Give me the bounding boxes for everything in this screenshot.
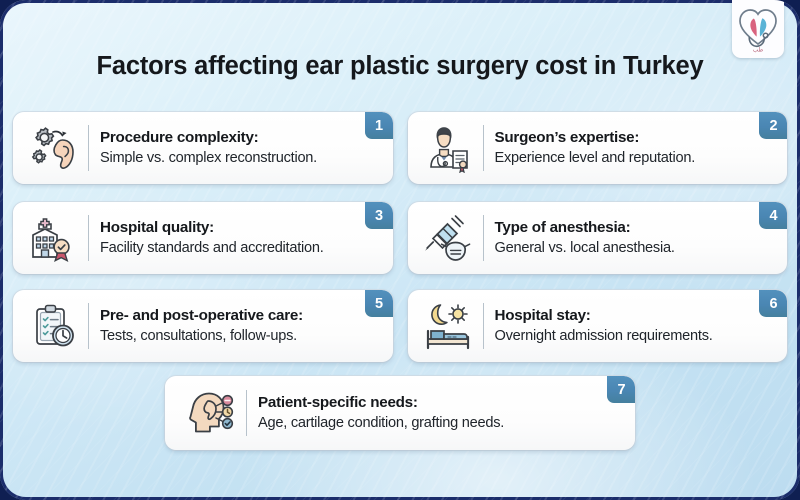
card-row-4: Patient-specific needs: Age, cartilage c… [165,376,635,450]
card-subtext: General vs. local anesthesia. [495,239,774,257]
card-number-badge: 6 [759,290,787,317]
card-divider [483,125,484,171]
card-heading: Surgeon’s expertise: [495,129,774,147]
card-heading: Patient-specific needs: [258,394,621,412]
page-title: Factors affecting ear plastic surgery co… [0,52,800,81]
card-text: Pre- and post-operative care: Tests, con… [100,307,383,345]
heart-stethoscope-logo: طب [732,0,784,58]
factor-card-7[interactable]: Patient-specific needs: Age, cartilage c… [165,376,635,450]
card-text: Hospital quality: Facility standards and… [100,219,383,257]
card-text: Procedure complexity: Simple vs. complex… [100,129,383,167]
card-row-3: Pre- and post-operative care: Tests, con… [13,290,787,362]
card-divider [88,303,89,349]
infographic-canvas: طب Factors affecting ear plastic surgery… [0,0,800,500]
card-divider [88,125,89,171]
factor-card-4[interactable]: Type of anesthesia: General vs. local an… [408,202,788,274]
factor-card-6[interactable]: Hospital stay: Overnight admission requi… [408,290,788,362]
syringe-mask-icon [417,208,481,268]
card-subtext: Simple vs. complex reconstruction. [100,149,379,167]
card-subtext: Experience level and reputation. [495,149,774,167]
clipboard-clock-icon [22,296,86,356]
svg-text:طب: طب [753,47,764,54]
card-text: Type of anesthesia: General vs. local an… [495,219,778,257]
card-subtext: Tests, consultations, follow-ups. [100,327,379,345]
card-row-2: Hospital quality: Facility standards and… [13,202,787,274]
factor-card-2[interactable]: Surgeon’s expertise: Experience level an… [408,112,788,184]
hospital-badge-icon [22,208,86,268]
card-heading: Hospital quality: [100,219,379,237]
card-heading: Type of anesthesia: [495,219,774,237]
card-number-badge: 7 [607,376,635,403]
factor-card-1[interactable]: Procedure complexity: Simple vs. complex… [13,112,393,184]
card-subtext: Age, cartilage condition, grafting needs… [258,414,621,432]
card-divider [88,215,89,261]
card-divider [483,215,484,261]
gears-ear-icon [22,118,86,178]
card-text: Patient-specific needs: Age, cartilage c… [258,394,625,432]
card-heading: Hospital stay: [495,307,774,325]
card-number-badge: 4 [759,202,787,229]
card-subtext: Overnight admission requirements. [495,327,774,345]
card-number-badge: 3 [365,202,393,229]
card-divider [246,390,247,436]
moon-sun-bed-icon [417,296,481,356]
card-heading: Procedure complexity: [100,129,379,147]
card-heading: Pre- and post-operative care: [100,307,379,325]
card-number-badge: 5 [365,290,393,317]
factor-card-3[interactable]: Hospital quality: Facility standards and… [13,202,393,274]
card-row-1: Procedure complexity: Simple vs. complex… [13,112,787,184]
factor-card-5[interactable]: Pre- and post-operative care: Tests, con… [13,290,393,362]
card-text: Hospital stay: Overnight admission requi… [495,307,778,345]
card-number-badge: 2 [759,112,787,139]
surgeon-certificate-icon [417,118,481,178]
card-text: Surgeon’s expertise: Experience level an… [495,129,778,167]
card-divider [483,303,484,349]
head-ear-nodes-icon [174,383,244,443]
card-number-badge: 1 [365,112,393,139]
card-subtext: Facility standards and accreditation. [100,239,379,257]
